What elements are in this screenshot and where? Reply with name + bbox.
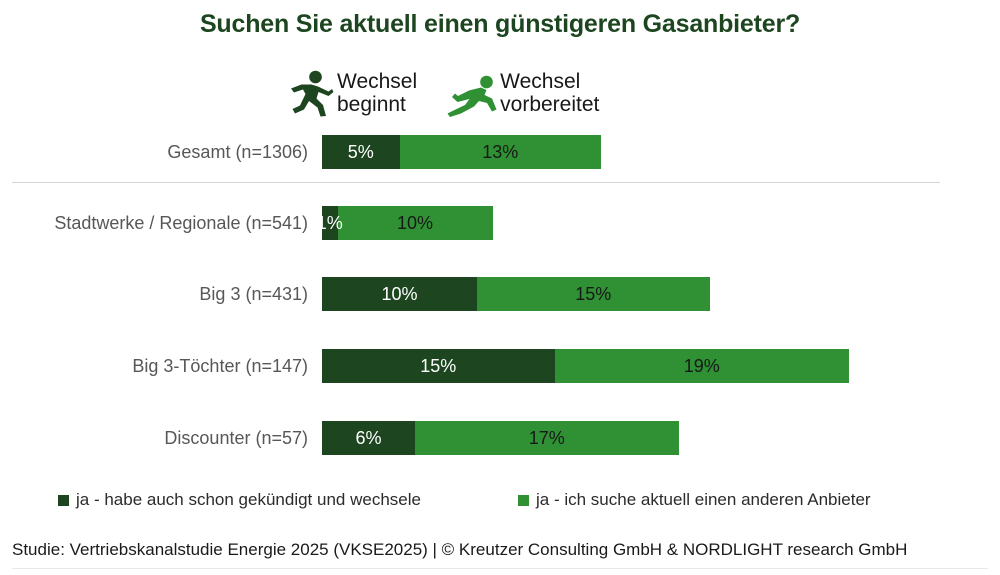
table-row: Stadtwerke / Regionale (n=541) 1% 10% — [0, 206, 1000, 240]
bar-value-label: 10% — [397, 213, 433, 234]
bar-segment-a[interactable]: 1% — [322, 206, 338, 240]
bar-segment-a[interactable]: 6% — [322, 421, 415, 455]
legend-swatch-icon — [518, 495, 529, 506]
chart-legend: ja - habe auch schon gekündigt und wechs… — [58, 490, 958, 512]
icon-legend-label: Wechsel vorbereitet — [500, 70, 599, 116]
bar-segment-b[interactable]: 15% — [477, 277, 710, 311]
icon-legend-label: Wechsel beginnt — [337, 70, 417, 116]
stacked-bar: 6% 17% — [322, 421, 679, 455]
runner-crouch-start-icon — [445, 68, 497, 118]
row-label: Discounter (n=57) — [0, 421, 308, 455]
row-label: Big 3-Töchter (n=147) — [0, 349, 308, 383]
icon-legend: Wechsel beginnt Wechsel vorbereitet — [288, 68, 599, 118]
bar-segment-a[interactable]: 5% — [322, 135, 400, 169]
bar-segment-b[interactable]: 19% — [555, 349, 850, 383]
bar-segment-a[interactable]: 15% — [322, 349, 555, 383]
bar-value-label: 5% — [348, 142, 374, 163]
stacked-bar: 15% 19% — [322, 349, 849, 383]
legend-label: ja - ich suche aktuell einen anderen Anb… — [536, 490, 871, 510]
runner-running-icon — [288, 68, 334, 118]
table-row: Discounter (n=57) 6% 17% — [0, 421, 1000, 455]
legend-item-ja-gekuendigt[interactable]: ja - habe auch schon gekündigt und wechs… — [58, 490, 421, 510]
bar-segment-b[interactable]: 10% — [338, 206, 493, 240]
bar-value-label: 13% — [482, 142, 518, 163]
legend-swatch-icon — [58, 495, 69, 506]
chart-title: Suchen Sie aktuell einen günstigeren Gas… — [0, 10, 1000, 39]
row-label: Big 3 (n=431) — [0, 277, 308, 311]
bar-value-label: 19% — [684, 356, 720, 377]
legend-label: ja - habe auch schon gekündigt und wechs… — [76, 490, 421, 510]
footer-divider — [12, 568, 988, 569]
bar-value-label: 17% — [529, 428, 565, 449]
section-divider — [12, 182, 940, 183]
bar-value-label: 15% — [575, 284, 611, 305]
stacked-bar: 5% 13% — [322, 135, 601, 169]
bar-segment-b[interactable]: 17% — [415, 421, 679, 455]
bar-value-label: 10% — [381, 284, 417, 305]
row-label: Gesamt (n=1306) — [0, 135, 308, 169]
bar-value-label: 6% — [355, 428, 381, 449]
icon-legend-item-wechsel-beginnt: Wechsel beginnt — [288, 68, 417, 118]
chart-container: Suchen Sie aktuell einen günstigeren Gas… — [0, 0, 1000, 575]
table-row: Big 3-Töchter (n=147) 15% 19% — [0, 349, 1000, 383]
bar-segment-a[interactable]: 10% — [322, 277, 477, 311]
table-row: Gesamt (n=1306) 5% 13% — [0, 135, 1000, 169]
table-row: Big 3 (n=431) 10% 15% — [0, 277, 1000, 311]
stacked-bar: 10% 15% — [322, 277, 710, 311]
row-label: Stadtwerke / Regionale (n=541) — [0, 206, 308, 240]
source-footer: Studie: Vertriebskanalstudie Energie 202… — [12, 540, 988, 560]
bar-value-label: 15% — [420, 356, 456, 377]
legend-item-ja-suche[interactable]: ja - ich suche aktuell einen anderen Anb… — [518, 490, 871, 510]
bar-segment-b[interactable]: 13% — [400, 135, 602, 169]
icon-legend-item-wechsel-vorbereitet: Wechsel vorbereitet — [445, 68, 599, 118]
bar-value-label: 1% — [317, 213, 343, 234]
stacked-bar: 1% 10% — [322, 206, 493, 240]
